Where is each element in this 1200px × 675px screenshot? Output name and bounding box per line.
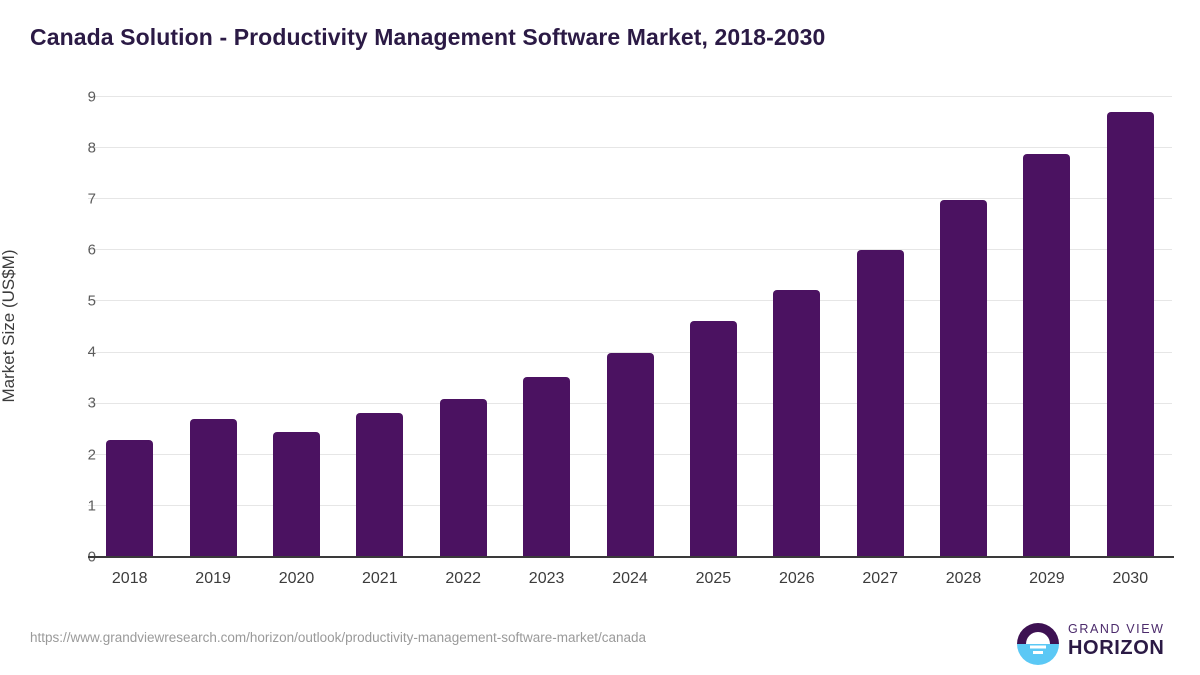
logo-line-grand-view: GRAND VIEW — [1068, 622, 1172, 637]
x-axis-tick-label-2029: 2029 — [1005, 570, 1089, 588]
horizon-sun-circle-icon — [1016, 622, 1060, 666]
x-axis-tick-label-2028: 2028 — [922, 570, 1006, 588]
bar-rect[interactable] — [773, 290, 820, 557]
logo-line-horizon: HORIZON — [1068, 637, 1172, 660]
bar-rect[interactable] — [106, 440, 153, 557]
y-axis-tick-label: 5 — [56, 293, 96, 310]
y-axis-tick-label: 1 — [56, 497, 96, 514]
page-title: Canada Solution - Productivity Managemen… — [30, 24, 825, 51]
x-axis-tick-label-2027: 2027 — [838, 570, 922, 588]
x-axis-tick-label-2024: 2024 — [588, 570, 672, 588]
y-axis-tick-label: 2 — [56, 446, 96, 463]
x-axis-tick-label-2023: 2023 — [505, 570, 589, 588]
chart-page: Canada Solution - Productivity Managemen… — [0, 0, 1200, 675]
x-axis-tick-label-2025: 2025 — [671, 570, 755, 588]
logo-text: GRAND VIEW HORIZON — [1068, 622, 1172, 660]
bar-rect[interactable] — [440, 399, 487, 557]
y-axis-tick-label: 4 — [56, 344, 96, 361]
x-axis-tick-label-2020: 2020 — [255, 570, 339, 588]
gridline — [88, 147, 1172, 148]
bar-rect[interactable] — [690, 321, 737, 557]
x-axis-tick-label-2030: 2030 — [1088, 570, 1172, 588]
y-axis-tick-label: 8 — [56, 139, 96, 156]
bar-rect[interactable] — [523, 377, 570, 557]
bar-rect[interactable] — [273, 432, 320, 557]
gridline — [88, 300, 1172, 301]
source-url[interactable]: https://www.grandviewresearch.com/horizo… — [30, 630, 646, 645]
gridline — [88, 198, 1172, 199]
y-axis-title: Market Size (US$M) — [0, 249, 19, 402]
x-axis-tick-label-2019: 2019 — [171, 570, 255, 588]
bar-rect[interactable] — [1023, 154, 1070, 557]
gridline — [88, 249, 1172, 250]
x-axis-tick-label-2021: 2021 — [338, 570, 422, 588]
bar-rect[interactable] — [356, 413, 403, 557]
y-axis-tick-label: 9 — [56, 88, 96, 105]
y-axis-tick-label: 7 — [56, 190, 96, 207]
gridline — [88, 96, 1172, 97]
grand-view-horizon-logo[interactable]: GRAND VIEW HORIZON — [1012, 620, 1172, 668]
x-axis-tick-label-2022: 2022 — [421, 570, 505, 588]
bar-rect[interactable] — [940, 200, 987, 557]
bar-rect[interactable] — [857, 250, 904, 557]
y-axis-tick-label: 6 — [56, 242, 96, 259]
bar-rect[interactable] — [190, 419, 237, 558]
x-axis-tick-label-2018: 2018 — [88, 570, 172, 588]
x-axis-line — [88, 556, 1174, 558]
x-axis-tick-label-2026: 2026 — [755, 570, 839, 588]
bar-rect[interactable] — [607, 353, 654, 557]
y-axis-tick-label: 3 — [56, 395, 96, 412]
bar-rect[interactable] — [1107, 112, 1154, 557]
plot-area — [88, 96, 1172, 557]
